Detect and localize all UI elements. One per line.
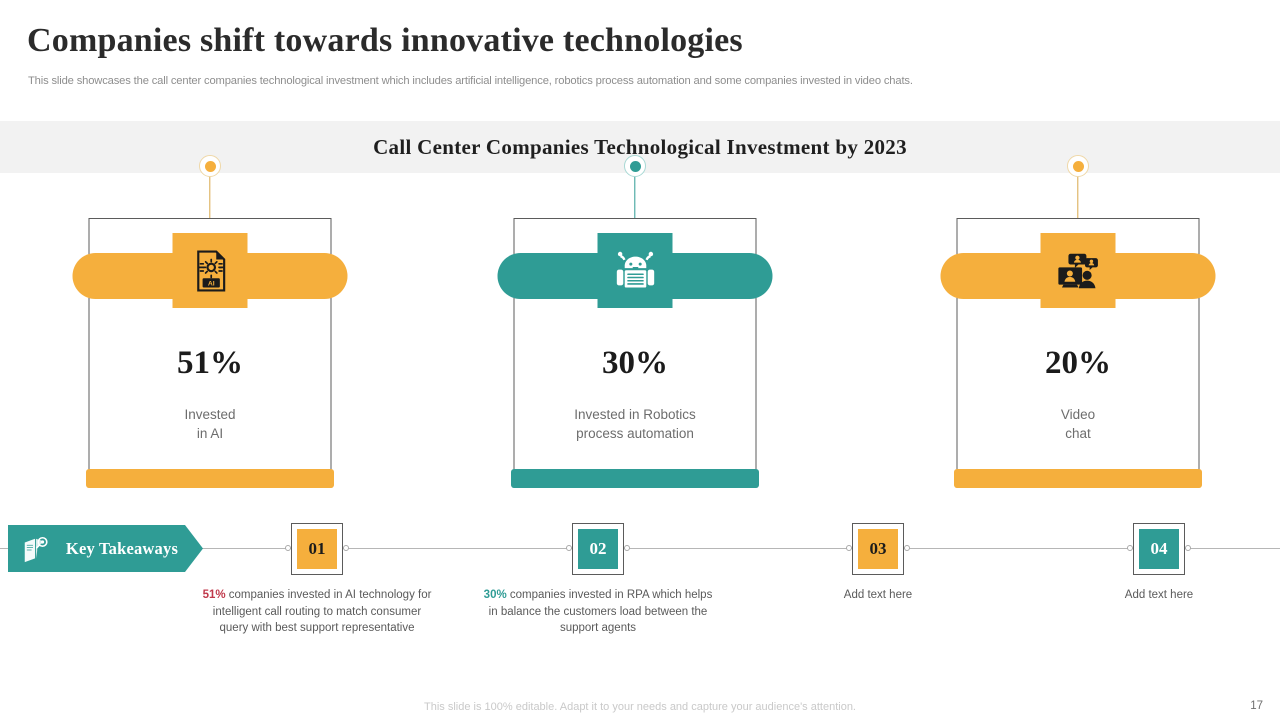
stat-card-ai[interactable]: AI 51% Invested in AI xyxy=(0,155,420,500)
takeaway-description: 51% companies invested in AI technology … xyxy=(202,587,432,637)
svg-text:AI: AI xyxy=(207,280,214,287)
insight-magnifier-icon xyxy=(8,525,63,572)
pin-ring-icon xyxy=(199,155,221,177)
page-title: Companies shift towards innovative techn… xyxy=(27,22,743,60)
pin-ring-icon xyxy=(1067,155,1089,177)
card-percent: 20% xyxy=(868,345,1280,382)
key-takeaways-label: Key Takeaways xyxy=(66,539,192,559)
card-percent: 51% xyxy=(0,345,420,382)
video-chat-icon xyxy=(1041,233,1116,308)
pin-marker-2 xyxy=(620,155,650,220)
takeaway-text: companies invested in AI technology for … xyxy=(213,589,432,634)
slide-root: Companies shift towards innovative techn… xyxy=(0,0,1280,720)
pin-marker-1 xyxy=(195,155,225,220)
key-takeaways-banner: Key Takeaways xyxy=(55,525,203,572)
takeaway-text: companies invested in RPA which helps in… xyxy=(489,589,713,634)
takeaway-number: 02 xyxy=(578,529,618,569)
card-percent: 30% xyxy=(425,345,845,382)
pin-dot-icon xyxy=(205,161,216,172)
takeaway-highlight: 30% xyxy=(484,589,507,601)
timeline-node-right xyxy=(624,545,630,551)
timeline-node-right xyxy=(904,545,910,551)
card-bottom-bar xyxy=(86,469,334,488)
card-label: Invested in Robotics process automation xyxy=(425,405,845,443)
page-number: 17 xyxy=(1250,700,1263,712)
stat-card-robotics[interactable]: 30% Invested in Robotics process automat… xyxy=(425,155,845,500)
pin-stem-icon xyxy=(209,176,210,220)
takeaway-highlight: 51% xyxy=(203,589,226,601)
card-label: Video chat xyxy=(868,405,1280,443)
pin-dot-icon xyxy=(1073,161,1084,172)
pin-ring-icon xyxy=(624,155,646,177)
takeaway-number: 03 xyxy=(858,529,898,569)
takeaway-number-box[interactable]: 01 xyxy=(291,523,343,575)
card-bottom-bar xyxy=(511,469,759,488)
pin-stem-icon xyxy=(1077,176,1078,220)
takeaway-number-box[interactable]: 04 xyxy=(1133,523,1185,575)
timeline-node-right xyxy=(1185,545,1191,551)
takeaway-description: Add text here xyxy=(1044,587,1274,604)
page-subtitle: This slide showcases the call center com… xyxy=(28,75,913,87)
takeaway-text: Add text here xyxy=(1125,589,1193,601)
takeaway-description: Add text here xyxy=(763,587,993,604)
pin-stem-icon xyxy=(634,176,635,220)
card-label: Invested in AI xyxy=(0,405,420,443)
card-bottom-bar xyxy=(954,469,1202,488)
pin-marker-3 xyxy=(1063,155,1093,220)
takeaway-text: Add text here xyxy=(844,589,912,601)
takeaway-number-box[interactable]: 02 xyxy=(572,523,624,575)
footer-note: This slide is 100% editable. Adapt it to… xyxy=(0,701,1280,713)
takeaway-number: 01 xyxy=(297,529,337,569)
pin-dot-icon xyxy=(630,161,641,172)
takeaway-description: 30% companies invested in RPA which help… xyxy=(483,587,713,637)
stat-card-video-chat[interactable]: 20% Video chat xyxy=(868,155,1280,500)
stat-cards-row: AI 51% Invested in AI xyxy=(0,155,1280,500)
ai-document-icon: AI xyxy=(173,233,248,308)
takeaway-number-box[interactable]: 03 xyxy=(852,523,904,575)
takeaway-number: 04 xyxy=(1139,529,1179,569)
timeline-node-right xyxy=(343,545,349,551)
robot-icon xyxy=(598,233,673,308)
